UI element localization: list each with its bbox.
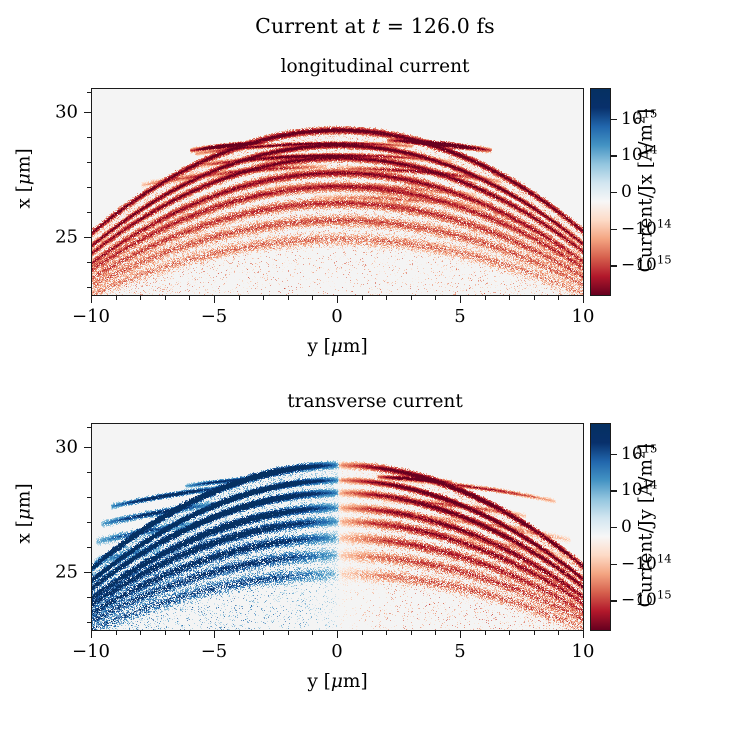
ytick-label: 25 (40, 562, 78, 583)
ytick-minor (87, 597, 91, 598)
cbar-tick-major (611, 192, 617, 193)
yaxis-label-transverse: x [μm] (14, 454, 35, 574)
cbar-tick-exponent: 15 (657, 253, 672, 267)
xtick-minor (534, 631, 535, 635)
cbar-tick-major (611, 564, 617, 565)
ytick-minor (87, 212, 91, 213)
xtick-label: −10 (72, 641, 110, 662)
cbar-label-prefix: Current/Jx [A/m (636, 124, 657, 272)
suptitle-prefix: Current at (255, 14, 372, 38)
xtick-label: −5 (201, 306, 228, 327)
xtick-minor (435, 631, 436, 635)
xtick-minor (509, 631, 510, 635)
cbar-tick-mantissa: 0 (621, 182, 632, 202)
xtick-minor (165, 631, 166, 635)
cbar-tick-mantissa: 0 (621, 517, 632, 537)
xtick-major (214, 296, 215, 303)
cbar-tick-major (611, 119, 617, 120)
cbar-label-prefix: Current/Jy [A/m (636, 459, 657, 607)
ytick-major (84, 237, 91, 238)
yaxis-label-longitudinal: x [μm] (14, 119, 35, 239)
suptitle-equals: = (380, 14, 411, 38)
xtick-label: 10 (572, 306, 595, 327)
xtick-minor (386, 296, 387, 300)
ytick-minor (87, 187, 91, 188)
xtick-minor (263, 296, 264, 300)
xtick-minor (189, 296, 190, 300)
scatter-canvas-longitudinal (92, 89, 584, 296)
suptitle-value: 126.0 (411, 14, 470, 38)
ytick-minor (87, 427, 91, 428)
cbar-tick-major (611, 527, 617, 528)
xtick-label: 5 (454, 641, 465, 662)
ytick-label: 30 (40, 437, 78, 458)
cbar-tick-major (611, 600, 617, 601)
xtick-major (460, 631, 461, 638)
yaxis-label-text: x [μm] (14, 483, 35, 543)
axes-title-transverse: transverse current (0, 391, 750, 412)
xtick-minor (411, 631, 412, 635)
scatter-canvas-transverse (92, 424, 584, 631)
xtick-minor (288, 631, 289, 635)
ytick-label: 25 (40, 227, 78, 248)
colorbar-longitudinal[interactable] (590, 88, 611, 296)
colorbar-gradient (591, 89, 610, 295)
xtick-label: −10 (72, 306, 110, 327)
xtick-minor (263, 631, 264, 635)
cbar-tick-label: 0 (621, 182, 632, 202)
xtick-major (337, 296, 338, 303)
xtick-label: −5 (201, 641, 228, 662)
xtick-minor (509, 296, 510, 300)
plot-area-transverse[interactable] (91, 423, 584, 631)
xtick-major (91, 631, 92, 638)
panel-longitudinal: longitudinal current (0, 46, 750, 376)
xtick-minor (165, 296, 166, 300)
xtick-minor (558, 631, 559, 635)
ytick-minor (87, 92, 91, 93)
cbar-tick-label: 0 (621, 517, 632, 537)
plot-area-longitudinal[interactable] (91, 88, 584, 296)
ytick-minor (87, 287, 91, 288)
ytick-minor (87, 137, 91, 138)
xtick-minor (288, 296, 289, 300)
xtick-minor (312, 296, 313, 300)
cbar-tick-exponent: 14 (657, 216, 672, 230)
xtick-major (583, 631, 584, 638)
xtick-minor (116, 631, 117, 635)
colorbar-label-transverse: Current/Jy [A/m2] (636, 411, 657, 641)
xtick-minor (189, 631, 190, 635)
cbar-tick-major (611, 229, 617, 230)
xtick-minor (362, 631, 363, 635)
ytick-minor (87, 162, 91, 163)
xaxis-label-text: y [μm] (307, 671, 367, 692)
ytick-minor (87, 622, 91, 623)
colorbar-label-longitudinal: Current/Jx [A/m2] (636, 76, 657, 306)
figure-suptitle: Current at t = 126.0 fs (0, 14, 750, 38)
xtick-minor (140, 631, 141, 635)
panel-transverse: transverse current −1 (0, 381, 750, 711)
xtick-label: 0 (331, 306, 342, 327)
xtick-minor (116, 296, 117, 300)
cbar-tick-exponent: 15 (657, 588, 672, 602)
ytick-minor (87, 472, 91, 473)
ytick-minor (87, 497, 91, 498)
axes-title-longitudinal: longitudinal current (0, 56, 750, 77)
xtick-major (583, 296, 584, 303)
colorbar-gradient (591, 424, 610, 630)
suptitle-variable: t (372, 14, 380, 38)
cbar-label-exponent: 2 (632, 451, 647, 459)
xtick-minor (534, 296, 535, 300)
ytick-minor (87, 522, 91, 523)
xtick-minor (411, 296, 412, 300)
xtick-label: 10 (572, 641, 595, 662)
ytick-major (84, 572, 91, 573)
cbar-tick-exponent: 14 (657, 551, 672, 565)
xtick-major (91, 296, 92, 303)
cbar-tick-major (611, 490, 617, 491)
xtick-label: 0 (331, 641, 342, 662)
ytick-label: 30 (40, 102, 78, 123)
cbar-tick-major (611, 454, 617, 455)
ytick-minor (87, 262, 91, 263)
xtick-minor (140, 296, 141, 300)
ytick-major (84, 112, 91, 113)
ytick-minor (87, 547, 91, 548)
xtick-minor (485, 631, 486, 635)
xaxis-label-longitudinal: y [μm] (91, 336, 584, 357)
ytick-major (84, 447, 91, 448)
xtick-minor (239, 296, 240, 300)
xtick-minor (558, 296, 559, 300)
xtick-label: 5 (454, 306, 465, 327)
cbar-tick-major (611, 265, 617, 266)
xtick-major (214, 631, 215, 638)
cbar-label-suffix: ] (636, 444, 657, 451)
xtick-minor (362, 296, 363, 300)
cbar-label-suffix: ] (636, 109, 657, 116)
cbar-tick-major (611, 155, 617, 156)
xtick-minor (485, 296, 486, 300)
xtick-minor (386, 631, 387, 635)
xtick-major (337, 631, 338, 638)
xaxis-label-transverse: y [μm] (91, 671, 584, 692)
yaxis-label-text: x [μm] (14, 148, 35, 208)
colorbar-transverse[interactable] (590, 423, 611, 631)
xtick-major (460, 296, 461, 303)
xtick-minor (239, 631, 240, 635)
cbar-label-exponent: 2 (632, 116, 647, 124)
suptitle-unit: fs (470, 14, 495, 38)
xtick-minor (312, 631, 313, 635)
xtick-minor (435, 296, 436, 300)
xaxis-label-text: y [μm] (307, 336, 367, 357)
